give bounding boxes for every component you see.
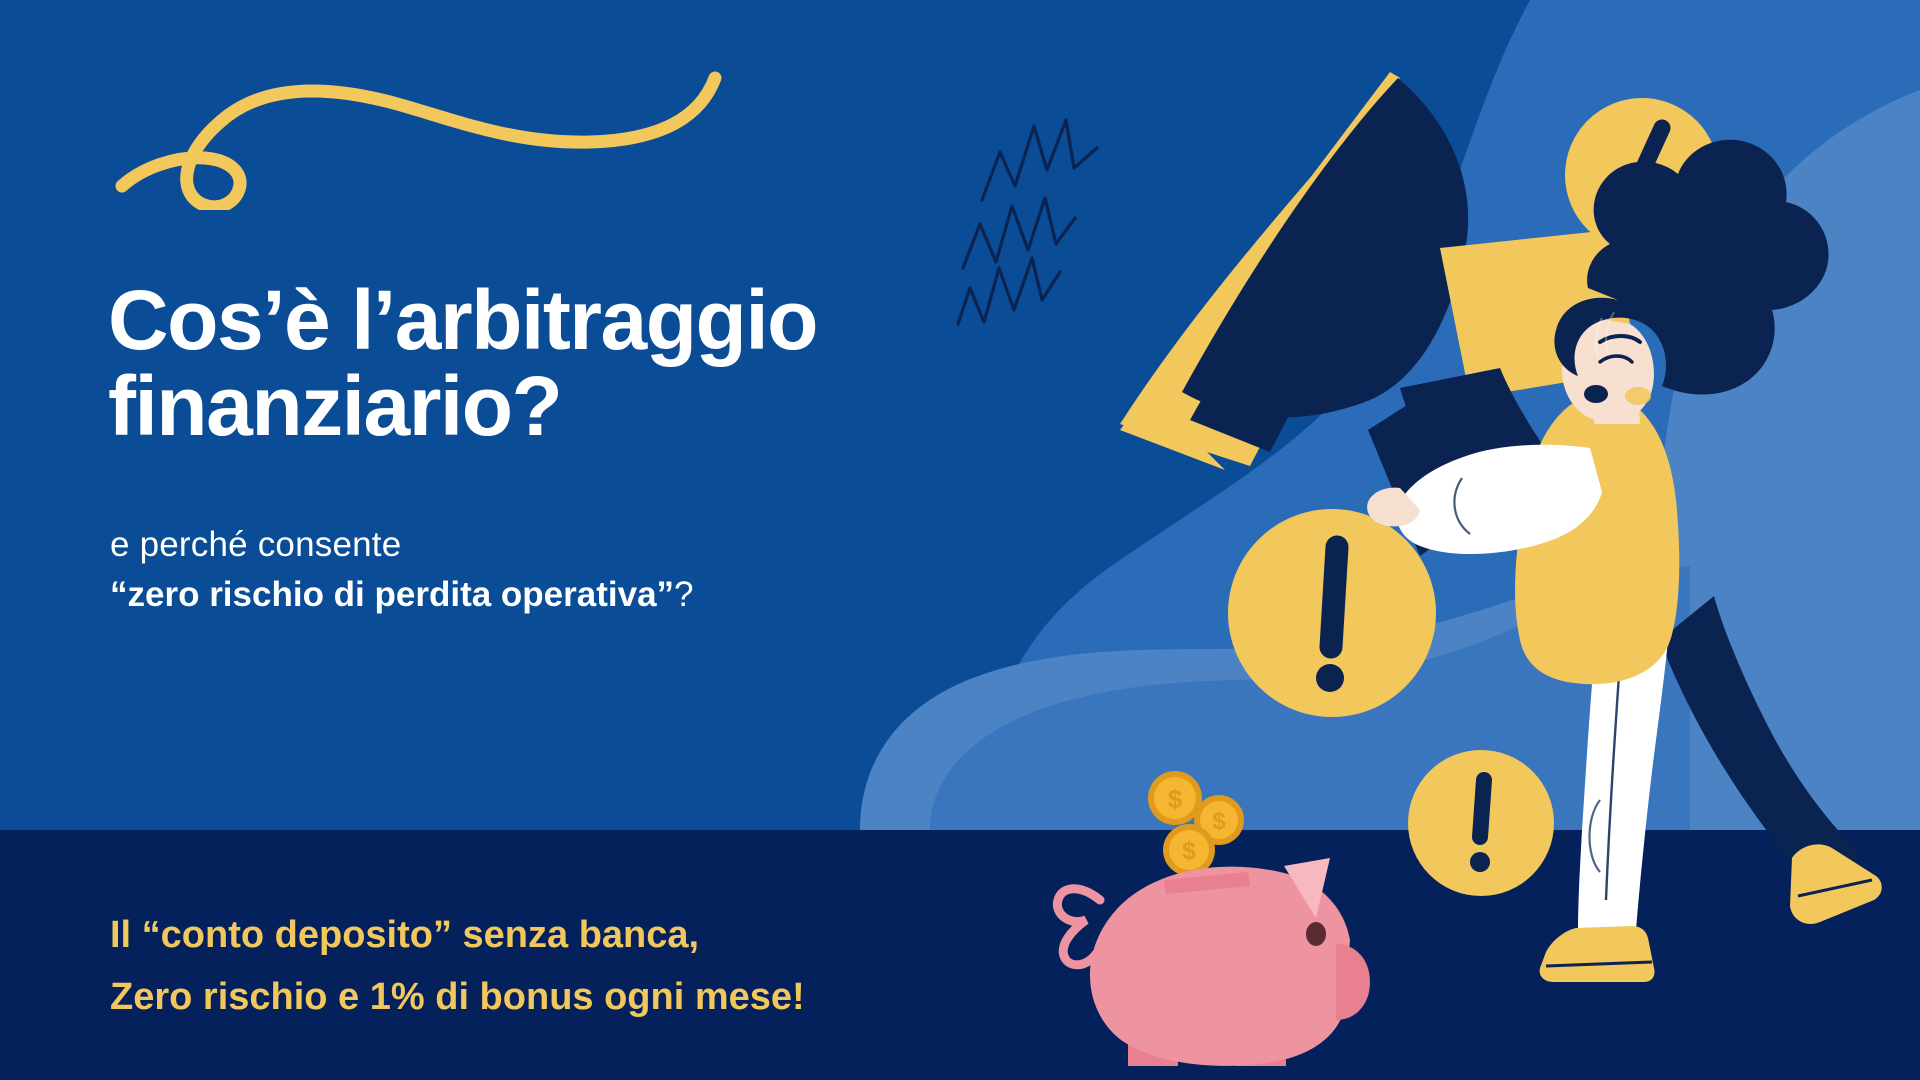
subtitle-trailing-mark: ? bbox=[674, 575, 693, 614]
subtitle-line-2: “zero rischio di perdita operativa”? bbox=[110, 570, 1010, 620]
footer-message: Il “conto deposito” senza banca, Zero ri… bbox=[110, 905, 1110, 1028]
footer-line-2: Zero rischio e 1% di bonus ogni mese! bbox=[110, 967, 1110, 1029]
subtitle-block: e perché consente “zero rischio di perdi… bbox=[110, 520, 1010, 619]
footer-line-1: Il “conto deposito” senza banca, bbox=[110, 905, 1110, 967]
yellow-squiggle-flourish bbox=[70, 30, 730, 210]
subtitle-quote-close: ” bbox=[657, 575, 675, 614]
subtitle-quote-open: “ bbox=[110, 575, 128, 614]
promo-banner: Cos’è l’arbitraggio finanziario? e perch… bbox=[0, 0, 1920, 1080]
subtitle-line-1: e perché consente bbox=[110, 520, 1010, 570]
subtitle-emphasis: zero rischio di perdita operativa bbox=[128, 575, 657, 614]
page-title: Cos’è l’arbitraggio finanziario? bbox=[108, 278, 1088, 449]
